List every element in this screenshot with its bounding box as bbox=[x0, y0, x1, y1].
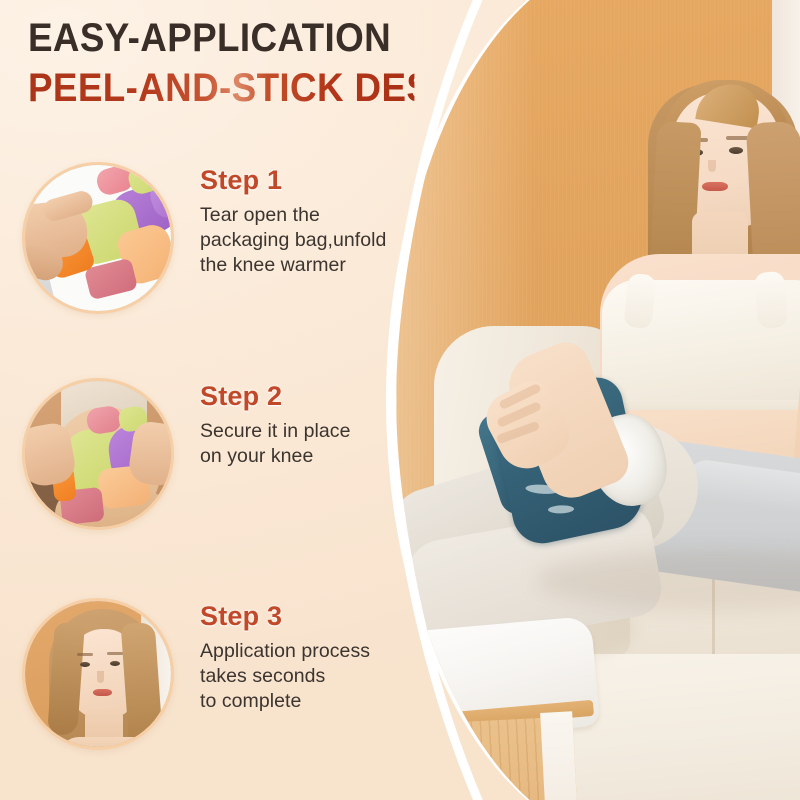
step-2-thumbnail[interactable] bbox=[22, 378, 174, 530]
step-item-3: Step 3 Application process takes seconds… bbox=[22, 598, 422, 758]
model-lips bbox=[702, 182, 728, 191]
step-item-2: Step 2 Secure it in place on your knee bbox=[22, 378, 422, 538]
hand-peeling-patches-image bbox=[25, 165, 171, 311]
step-item-1: Step 1 Tear open the packaging bag,unfol… bbox=[22, 162, 422, 322]
model-nose bbox=[708, 160, 716, 172]
model-brow-right bbox=[726, 136, 748, 140]
portrait-brow-left bbox=[77, 653, 93, 656]
smiling-woman-portrait-image bbox=[25, 601, 171, 747]
portrait-nose bbox=[97, 671, 104, 683]
step-3-thumbnail[interactable] bbox=[22, 598, 174, 750]
hero-photo bbox=[386, 0, 800, 800]
model-top-strap-right bbox=[754, 271, 789, 329]
headline-secondary: PEEL-AND-STICK DESIGN bbox=[28, 67, 414, 109]
hero-photo-panel bbox=[386, 0, 800, 800]
model-eye-right bbox=[729, 147, 743, 154]
portrait-eye-left bbox=[80, 662, 90, 667]
step-1-thumbnail[interactable] bbox=[22, 162, 174, 314]
headline-block: EASY-APPLICATION PEEL-AND-STICK DESIGN bbox=[28, 18, 448, 109]
headline-primary: EASY-APPLICATION bbox=[28, 18, 414, 59]
poster-canvas: EASY-APPLICATION PEEL-AND-STICK DESIGN bbox=[0, 0, 800, 800]
portrait-brow-right bbox=[107, 652, 123, 655]
portrait-shoulders bbox=[59, 737, 153, 747]
applying-patch-to-knee-image bbox=[25, 381, 171, 527]
portrait-eye-right bbox=[110, 661, 120, 666]
portrait-lips bbox=[93, 689, 112, 696]
